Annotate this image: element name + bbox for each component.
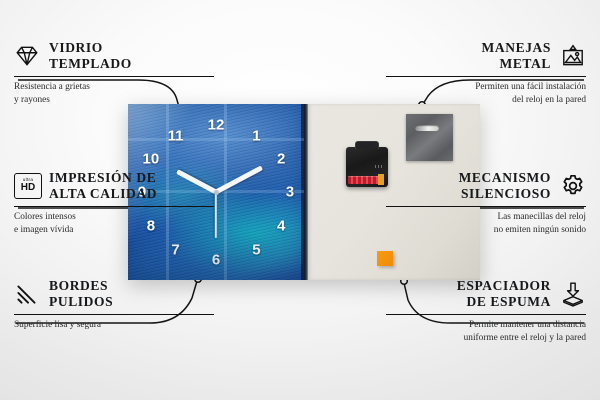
foam-spacer-icon xyxy=(560,281,586,307)
clock-numeral-3: 3 xyxy=(286,185,294,200)
gear-icon xyxy=(560,173,586,199)
clock-second-hand xyxy=(215,192,217,238)
clock-numeral-10: 10 xyxy=(143,152,160,167)
callout-title-line2: METAL xyxy=(482,56,551,72)
callout-desc-line2: e imagen vívida xyxy=(14,224,214,236)
clock-numeral-5: 5 xyxy=(252,243,260,258)
foam-spacer xyxy=(377,251,393,266)
callout-title-line1: VIDRIO xyxy=(49,40,132,56)
callout-desc-line1: Superficie lisa y segura xyxy=(14,319,214,331)
diamond-icon xyxy=(14,43,40,69)
callout-divider xyxy=(14,206,214,208)
callout-desc-line1: Permite mantener una distancia xyxy=(386,319,586,331)
callout-impresion-alta-calidad: ultra HD IMPRESIÓN DE ALTA CALIDAD Color… xyxy=(14,170,214,236)
callout-espaciador-de-espuma: ESPACIADOR DE ESPUMA Permite mantener un… xyxy=(386,278,586,344)
callout-title-line2: DE ESPUMA xyxy=(457,294,551,310)
mechanism-hang-tab xyxy=(355,141,379,149)
battery-cap xyxy=(378,174,384,185)
callout-title-line2: ALTA CALIDAD xyxy=(49,186,157,202)
callout-manejas-metal: MANEJAS METAL Permiten una fácil instala… xyxy=(386,40,586,106)
mechanism-label xyxy=(375,165,384,168)
callout-desc-line1: Colores intensos xyxy=(14,211,214,223)
callout-desc-line2: no emiten ningún sonido xyxy=(386,224,586,236)
polished-edges-icon xyxy=(14,281,40,307)
ultra-hd-icon: ultra HD xyxy=(14,173,40,199)
callout-bordes-pulidos: BORDES PULIDOS Superficie lisa y segura xyxy=(14,278,214,332)
callout-divider xyxy=(14,76,214,78)
callout-title-line2: TEMPLADO xyxy=(49,56,132,72)
battery xyxy=(348,176,384,184)
infographic-canvas: 12 1 2 3 4 5 6 7 8 9 10 11 xyxy=(0,0,600,400)
clock-numeral-2: 2 xyxy=(277,152,285,167)
callout-title-line1: IMPRESIÓN DE xyxy=(49,170,157,186)
clock-numeral-12: 12 xyxy=(208,118,225,133)
clock-numeral-11: 11 xyxy=(168,129,184,144)
clock-numeral-6: 6 xyxy=(212,253,220,268)
ultra-hd-icon-bottom: HD xyxy=(21,183,35,194)
callout-divider xyxy=(386,206,586,208)
clock-mechanism xyxy=(346,147,388,187)
callout-title-line1: BORDES xyxy=(49,278,113,294)
callout-title-line2: SILENCIOSO xyxy=(459,186,551,202)
callout-desc-line1: Las manecillas del reloj xyxy=(386,211,586,223)
callout-divider xyxy=(386,76,586,78)
clock-numeral-4: 4 xyxy=(277,219,285,234)
callout-desc-line2: del reloj en la pared xyxy=(386,94,586,106)
metal-hanger-plate xyxy=(406,114,453,161)
callout-title-line1: MANEJAS xyxy=(482,40,551,56)
callout-desc-line2: uniforme entre el reloj y la pared xyxy=(386,332,586,344)
callout-mecanismo-silencioso: MECANISMO SILENCIOSO Las manecillas del … xyxy=(386,170,586,236)
clock-numeral-7: 7 xyxy=(171,243,179,258)
clock-numeral-1: 1 xyxy=(252,129,260,144)
callout-title-line2: PULIDOS xyxy=(49,294,113,310)
callout-title-line1: ESPACIADOR xyxy=(457,278,551,294)
callout-title-line1: MECANISMO xyxy=(459,170,551,186)
picture-frame-hanger-icon xyxy=(560,43,586,69)
callout-desc-line2: y rayones xyxy=(14,94,214,106)
callout-divider xyxy=(14,314,214,316)
callout-desc-line1: Permiten una fácil instalación xyxy=(386,81,586,93)
callout-desc-line1: Resistencia a grietas xyxy=(14,81,214,93)
hanger-slot xyxy=(415,125,439,131)
callout-vidrio-templado: VIDRIO TEMPLADO Resistencia a grietas y … xyxy=(14,40,214,106)
callout-divider xyxy=(386,314,586,316)
clock-center-pin xyxy=(214,190,219,195)
